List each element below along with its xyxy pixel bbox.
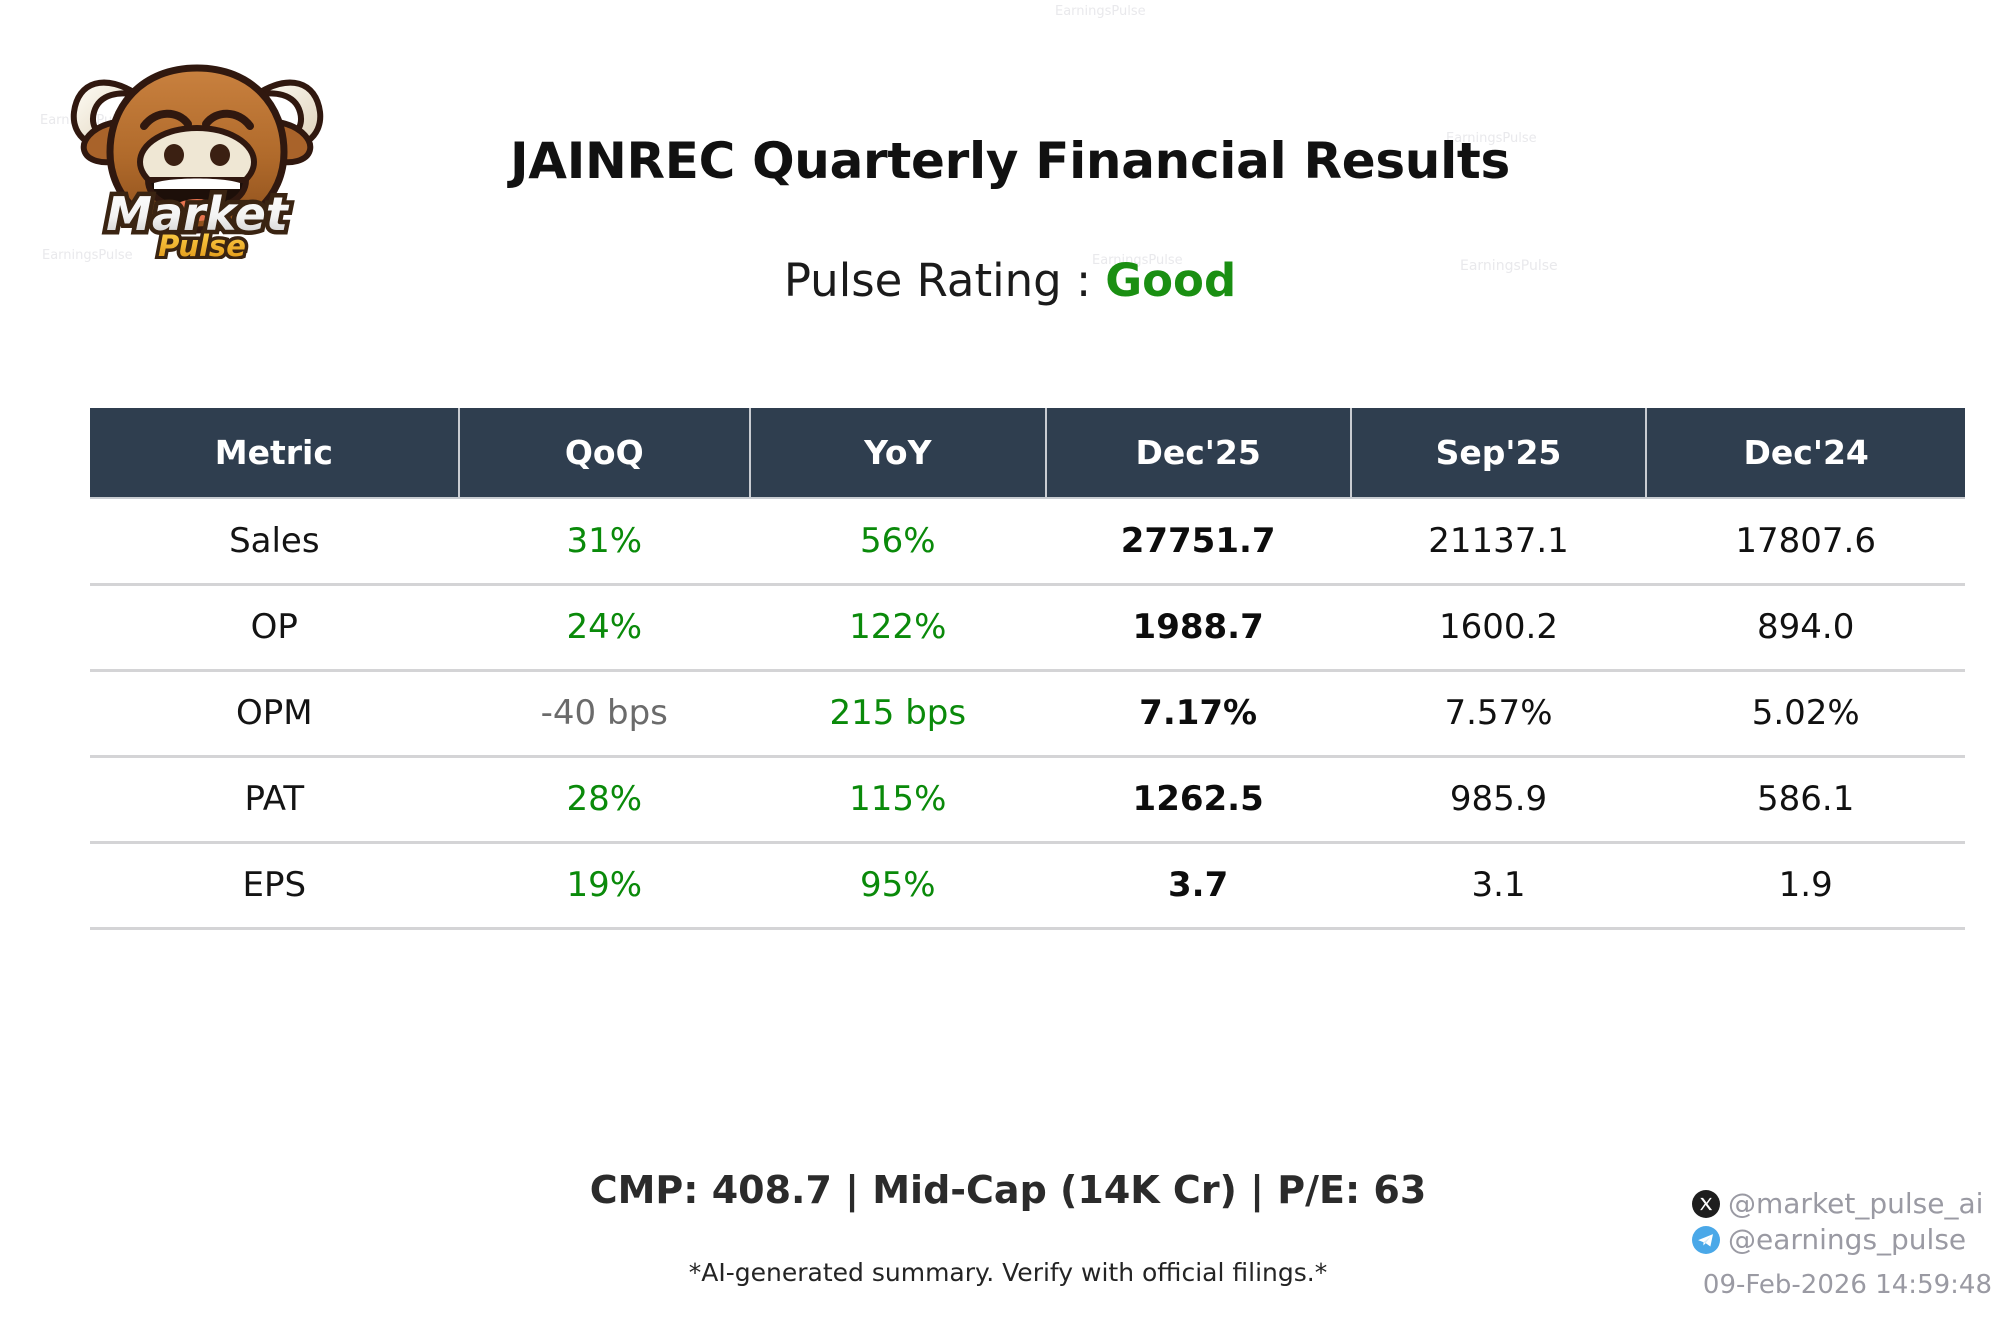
cell-dec25: 27751.7 bbox=[1046, 498, 1351, 584]
pulse-rating-value: Good bbox=[1105, 254, 1236, 307]
table-header-row: Metric QoQ YoY Dec'25 Sep'25 Dec'24 bbox=[90, 408, 1965, 498]
cell-sep25: 1600.2 bbox=[1351, 584, 1647, 670]
pulse-rating-label: Pulse Rating : bbox=[784, 254, 1091, 307]
cell-yoy: 95% bbox=[750, 842, 1046, 928]
pulse-rating-line: Pulse Rating :Good bbox=[330, 254, 1690, 307]
column-header-qoq[interactable]: QoQ bbox=[459, 408, 750, 498]
table-row: PAT28%115%1262.5985.9586.1 bbox=[90, 756, 1965, 842]
column-header-dec24[interactable]: Dec'24 bbox=[1646, 408, 1965, 498]
cell-dec24: 17807.6 bbox=[1646, 498, 1965, 584]
cell-dec24: 586.1 bbox=[1646, 756, 1965, 842]
cell-dec25: 1988.7 bbox=[1046, 584, 1351, 670]
market-pulse-logo: Market Pulse bbox=[62, 34, 332, 259]
cell-sep25: 7.57% bbox=[1351, 670, 1647, 756]
financial-results-table: Metric QoQ YoY Dec'25 Sep'25 Dec'24 Sale… bbox=[90, 408, 1965, 930]
cell-qoq: 19% bbox=[459, 842, 750, 928]
table-row: EPS19%95%3.73.11.9 bbox=[90, 842, 1965, 928]
x-twitter-icon bbox=[1692, 1190, 1720, 1218]
column-header-sep25[interactable]: Sep'25 bbox=[1351, 408, 1647, 498]
table-row: Sales31%56%27751.721137.117807.6 bbox=[90, 498, 1965, 584]
cell-yoy: 215 bps bbox=[750, 670, 1046, 756]
page-title: JAINREC Quarterly Financial Results bbox=[330, 132, 1690, 190]
telegram-icon bbox=[1692, 1226, 1720, 1254]
column-header-metric[interactable]: Metric bbox=[90, 408, 459, 498]
table-body: Sales31%56%27751.721137.117807.6OP24%122… bbox=[90, 498, 1965, 928]
generated-timestamp: 09-Feb-2026 14:59:48 bbox=[1692, 1270, 1992, 1300]
cell-dec24: 1.9 bbox=[1646, 842, 1965, 928]
watermark-label: EarningsPulse bbox=[1055, 4, 1146, 19]
cell-qoq: 31% bbox=[459, 498, 750, 584]
social-row-x[interactable]: @market_pulse_ai bbox=[1692, 1186, 1992, 1222]
cell-dec25: 1262.5 bbox=[1046, 756, 1351, 842]
social-row-telegram[interactable]: @earnings_pulse bbox=[1692, 1222, 1992, 1258]
column-header-yoy[interactable]: YoY bbox=[750, 408, 1046, 498]
cell-qoq: 24% bbox=[459, 584, 750, 670]
cell-dec25: 7.17% bbox=[1046, 670, 1351, 756]
cell-sep25: 21137.1 bbox=[1351, 498, 1647, 584]
column-header-dec25[interactable]: Dec'25 bbox=[1046, 408, 1351, 498]
cell-metric: PAT bbox=[90, 756, 459, 842]
cell-dec25: 3.7 bbox=[1046, 842, 1351, 928]
cell-qoq: 28% bbox=[459, 756, 750, 842]
table-row: OP24%122%1988.71600.2894.0 bbox=[90, 584, 1965, 670]
cell-metric: OPM bbox=[90, 670, 459, 756]
cell-metric: Sales bbox=[90, 498, 459, 584]
table-row: OPM-40 bps215 bps7.17%7.57%5.02% bbox=[90, 670, 1965, 756]
cell-metric: OP bbox=[90, 584, 459, 670]
x-handle: @market_pulse_ai bbox=[1728, 1190, 1983, 1218]
logo-pulse-text: Pulse bbox=[158, 229, 246, 259]
cell-yoy: 122% bbox=[750, 584, 1046, 670]
poster-canvas: EarningsPulseEarningsPulseEarningsPulseE… bbox=[0, 0, 2016, 1318]
cell-yoy: 56% bbox=[750, 498, 1046, 584]
cell-metric: EPS bbox=[90, 842, 459, 928]
cell-qoq: -40 bps bbox=[459, 670, 750, 756]
cell-sep25: 985.9 bbox=[1351, 756, 1647, 842]
cell-dec24: 894.0 bbox=[1646, 584, 1965, 670]
cell-sep25: 3.1 bbox=[1351, 842, 1647, 928]
cell-dec24: 5.02% bbox=[1646, 670, 1965, 756]
cell-yoy: 115% bbox=[750, 756, 1046, 842]
social-links: @market_pulse_ai @earnings_pulse 09-Feb-… bbox=[1692, 1186, 1992, 1300]
telegram-handle: @earnings_pulse bbox=[1728, 1226, 1966, 1254]
